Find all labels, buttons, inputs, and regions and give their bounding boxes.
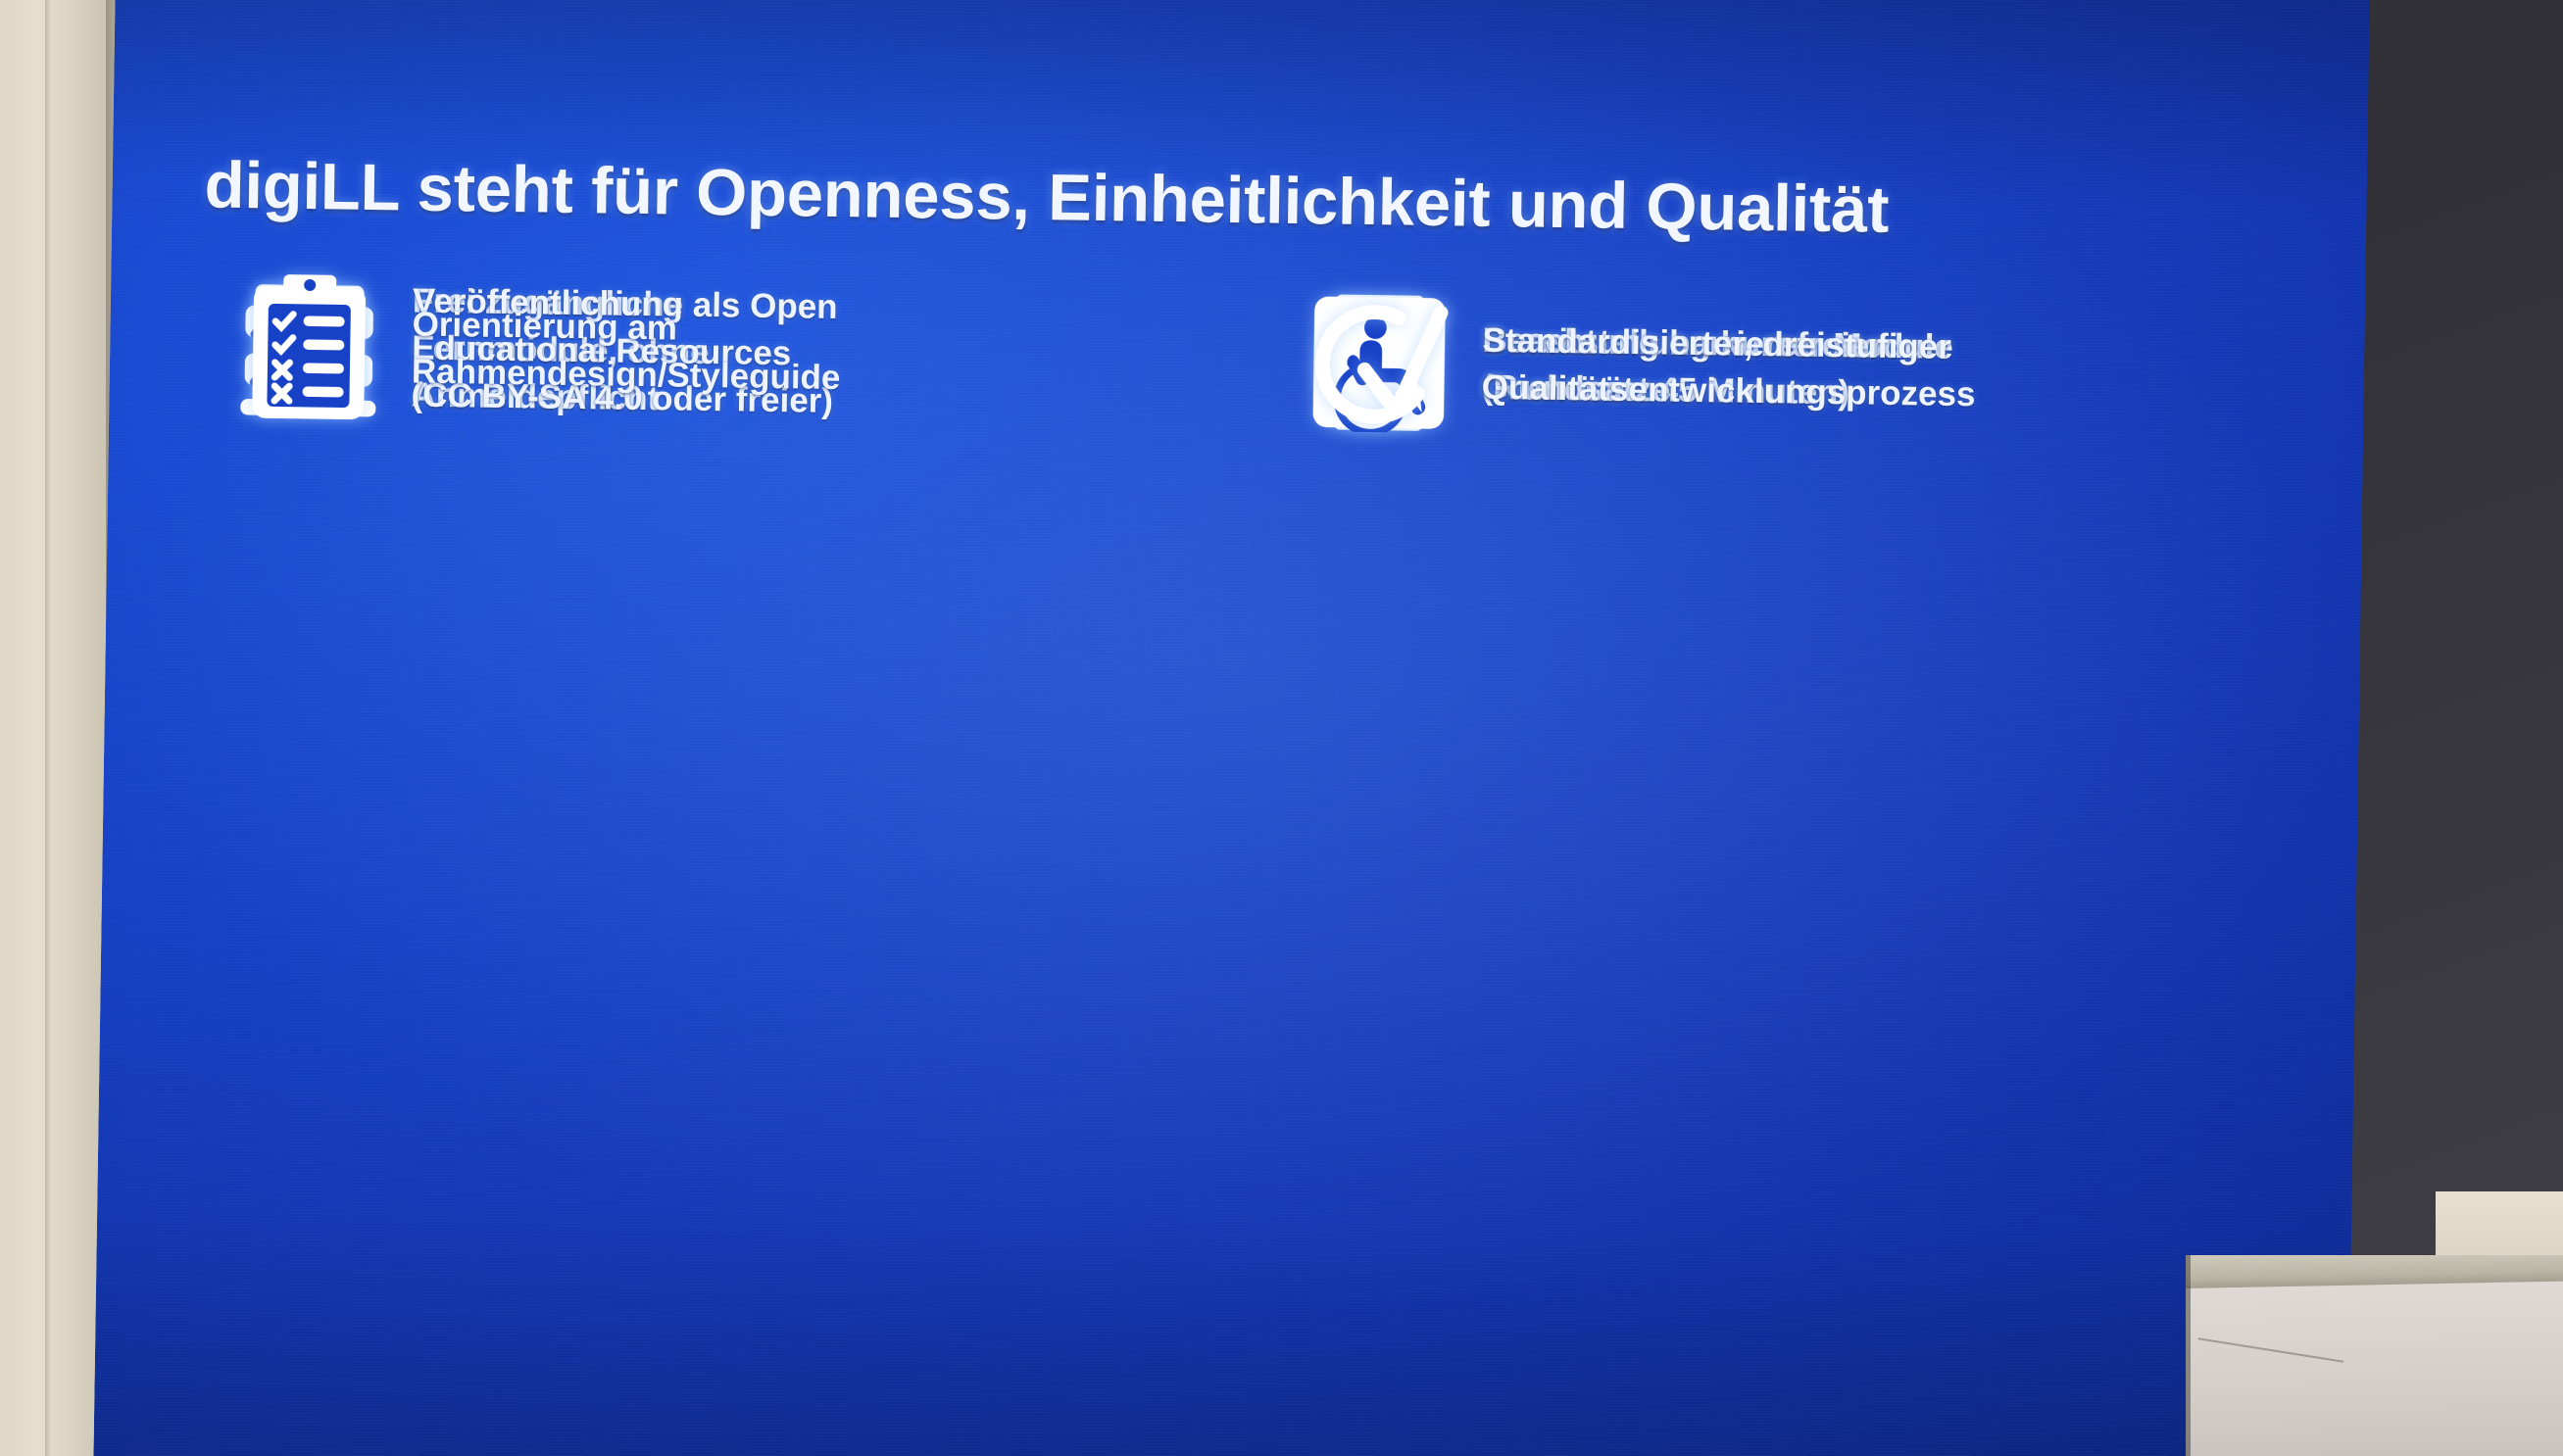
feature-text-line: Rahmendesign/Styleguide: [412, 349, 841, 403]
cycle-checkmark-icon: [1285, 278, 1474, 448]
feature-column-right: Bereitstellung kurzer Module (Richtwert …: [1287, 278, 2296, 293]
feature-styleguide: Orientierung am Rahmendesign/Styleguide: [215, 263, 842, 438]
slide-content: digiLL steht für Openness, Einheitlichke…: [93, 0, 2370, 1456]
feature-text-line: Qualitätsentwicklungsprozess: [1481, 364, 1975, 419]
page-title: digiLL steht für Openness, Einheitlichke…: [204, 150, 2224, 251]
feature-quality-process: Standardisierter, dreistufiger Qualitäts…: [1285, 278, 1977, 455]
feature-styleguide-text: Orientierung am Rahmendesign/Styleguide: [412, 301, 842, 402]
feature-column-left: Frei zugängliche Lernmodule, ohne Anmeld…: [218, 263, 1266, 278]
feature-columns: Frei zugängliche Lernmodule, ohne Anmeld…: [112, 261, 2366, 294]
flipchart-surface: [2186, 1282, 2563, 1456]
flipchart-occluder: [2186, 1255, 2563, 1456]
projected-slide-area: digiLL steht für Openness, Einheitlichke…: [93, 0, 2370, 1456]
left-wall: [0, 0, 106, 1456]
flipchart-left-edge: [2186, 1255, 2191, 1456]
feature-quality-process-text: Standardisierter, dreistufiger Qualitäts…: [1481, 316, 1976, 418]
feature-text-line: Orientierung am: [412, 301, 841, 355]
room-photo-scene: digiLL steht für Openness, Einheitlichke…: [0, 0, 2563, 1456]
feature-text-line: Standardisierter, dreistufiger: [1482, 316, 1976, 371]
clipboard-checklist-icon: [215, 263, 404, 432]
